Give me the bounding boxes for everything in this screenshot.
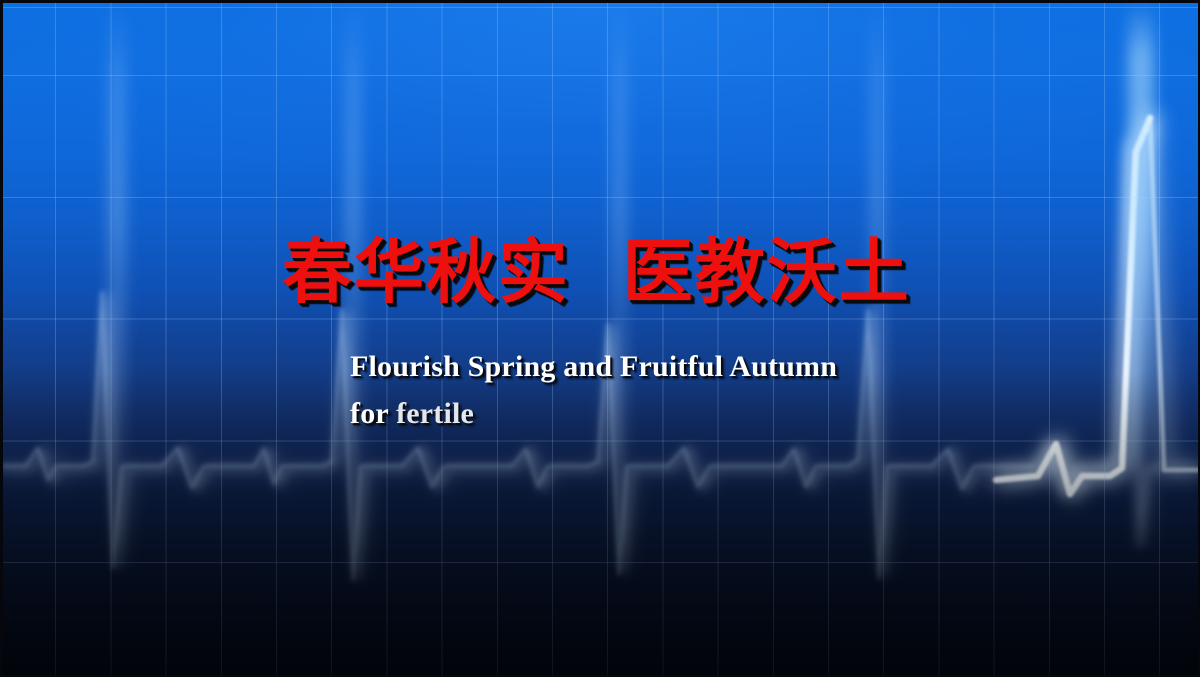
background-gradient <box>0 0 1200 677</box>
title-slide: 春华秋实 医教沃土 Flourish Spring and Fruitful A… <box>0 0 1200 677</box>
